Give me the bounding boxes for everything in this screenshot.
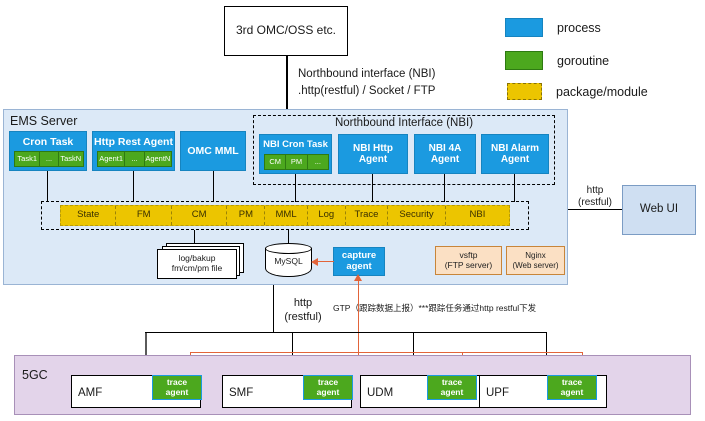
third-party-oms-box: 3rd OMC/OSS etc. xyxy=(224,6,348,56)
link-http-rest-agent-to-modules xyxy=(133,171,134,202)
module-nbi: NBI xyxy=(446,206,509,225)
module-fm: FM xyxy=(116,206,171,225)
module-state: State xyxy=(61,206,116,225)
architecture-diagram: process goroutine package/module 3rd OMC… xyxy=(0,0,705,421)
legend-row-package: package/module xyxy=(507,83,648,100)
process-swatch xyxy=(505,18,543,37)
core-to-capture-trunk-line xyxy=(358,279,359,352)
module-pm: PM xyxy=(227,206,265,225)
legend-row-goroutine: goroutine xyxy=(505,51,609,70)
webui-link-label-line2: (restful) xyxy=(578,197,612,210)
legend: process goroutine package/module xyxy=(505,18,700,103)
nginx-label-line2: (Web server) xyxy=(512,261,558,270)
vsftp-server-box: vsftp (FTP server) xyxy=(435,246,502,275)
web-ui-box: Web UI xyxy=(622,185,696,235)
capture-to-database-arrow-line xyxy=(316,261,334,262)
core-bus-line xyxy=(145,332,547,333)
nbi-connector-line xyxy=(286,56,288,110)
legend-label-process: process xyxy=(557,21,601,35)
network-function-amf: AMF trace agent xyxy=(71,375,201,408)
file-stack-label: log/bakup fm/cm/pm file xyxy=(157,249,237,279)
module-trace: Trace xyxy=(346,206,388,225)
nbi-group-title: Northbound Interface (NBI) xyxy=(253,117,555,131)
link-cron-task-to-modules xyxy=(47,171,48,202)
network-function-upf: UPF trace agent xyxy=(479,375,607,408)
network-function-amf-label: AMF xyxy=(78,387,102,399)
network-function-udm-label: UDM xyxy=(367,387,393,399)
process-nbi-http-agent-label: NBI Http Agent xyxy=(339,143,407,166)
nginx-server-box: Nginx (Web server) xyxy=(506,246,565,275)
cron-task-goroutines: Task1 ... TaskN xyxy=(14,151,84,167)
package-module-swatch xyxy=(507,83,542,100)
process-cron-task: Cron Task Task1 ... TaskN xyxy=(9,131,87,171)
process-omc-mml-label: OMC MML xyxy=(187,145,238,157)
process-nbi-4a-agent: NBI 4A Agent xyxy=(414,134,476,174)
database-cylinder-top xyxy=(265,243,312,254)
nginx-label-line1: Nginx xyxy=(525,251,545,260)
module-security: Security xyxy=(388,206,446,225)
network-function-udm: UDM trace agent xyxy=(360,375,485,408)
webui-link-label-line1: http xyxy=(587,185,604,198)
goroutine-ellipsis: ... xyxy=(125,151,144,167)
file-stack-label-line2: fm/cm/pm file xyxy=(172,264,223,274)
module-log: Log xyxy=(308,206,346,225)
goroutine-ellipsis: ... xyxy=(40,151,58,167)
nbi-cron-task-goroutines: CM PM ... xyxy=(264,154,329,170)
link-nbi-4a-agent-to-modules xyxy=(444,174,445,202)
process-capture-agent: capture agent xyxy=(333,247,385,276)
module-bar: State FM CM PM MML Log Trace Security NB… xyxy=(60,205,510,226)
goroutine-agentn: AgentN xyxy=(145,151,172,167)
goroutine-task1: Task1 xyxy=(14,151,40,167)
nbi-interface-label-line1: Northbound interface (NBI) xyxy=(298,66,435,83)
trace-agent-amf: trace agent xyxy=(152,375,202,400)
process-http-rest-agent-label: Http Rest Agent xyxy=(93,132,174,151)
core-http-link-label: http (restful) xyxy=(278,296,328,326)
goroutine-ellipsis: ... xyxy=(308,154,329,170)
nbi-interface-label: Northbound interface (NBI) .http(restful… xyxy=(298,66,435,101)
module-mml: MML xyxy=(265,206,307,225)
process-cron-task-label: Cron Task xyxy=(10,132,86,151)
trace-agent-udm: trace agent xyxy=(427,375,477,400)
process-nbi-alarm-agent-label: NBI Alarm Agent xyxy=(482,143,548,166)
module-cm: CM xyxy=(172,206,227,225)
legend-row-process: process xyxy=(505,18,601,37)
core-http-link-label-line1: http xyxy=(294,297,312,311)
legend-label-package: package/module xyxy=(556,85,648,99)
trace-bus-line xyxy=(190,352,583,353)
link-nbi-http-agent-to-modules xyxy=(372,174,373,202)
core-to-capture-arrowhead xyxy=(354,274,362,281)
database-label: MySQL xyxy=(265,254,312,270)
trace-agent-upf: trace agent xyxy=(547,375,597,400)
webui-link-label: http (restful) xyxy=(572,184,618,210)
process-nbi-4a-agent-label: NBI 4A Agent xyxy=(415,143,475,166)
gtp-note-label: GTP（跟踪数据上报）***跟踪任务通过http restful下发 xyxy=(333,302,633,314)
network-function-upf-label: UPF xyxy=(486,387,509,399)
trace-agent-smf-line2: agent xyxy=(317,388,340,398)
trace-agent-udm-line2: agent xyxy=(441,388,464,398)
capture-to-database-arrowhead xyxy=(311,258,318,266)
goroutine-cm: CM xyxy=(264,154,286,170)
link-nbi-alarm-agent-to-modules xyxy=(514,174,515,202)
trace-agent-smf: trace agent xyxy=(303,375,353,400)
nbi-interface-label-line2: .http(restful) / Socket / FTP xyxy=(298,83,435,100)
goroutine-agent1: Agent1 xyxy=(97,151,125,167)
trace-agent-upf-line2: agent xyxy=(561,388,584,398)
vsftp-label-line2: (FTP server) xyxy=(445,261,493,271)
trace-agent-amf-line2: agent xyxy=(166,388,189,398)
goroutine-pm: PM xyxy=(286,154,307,170)
process-omc-mml: OMC MML xyxy=(180,131,246,171)
goroutine-swatch xyxy=(505,51,543,70)
web-ui-label: Web UI xyxy=(640,203,678,216)
link-omc-mml-to-modules xyxy=(213,171,214,202)
process-http-rest-agent: Http Rest Agent Agent1 ... AgentN xyxy=(92,131,175,171)
process-nbi-alarm-agent: NBI Alarm Agent xyxy=(481,134,549,174)
http-rest-agent-goroutines: Agent1 ... AgentN xyxy=(97,151,172,167)
network-function-smf: SMF trace agent xyxy=(222,375,352,408)
legend-label-goroutine: goroutine xyxy=(557,54,609,68)
process-nbi-http-agent: NBI Http Agent xyxy=(338,134,408,174)
link-modules-to-files xyxy=(194,230,195,244)
core-network-title: 5GC xyxy=(22,368,48,382)
process-nbi-cron-task-label: NBI Cron Task xyxy=(260,135,331,154)
core-http-link-label-line2: (restful) xyxy=(284,311,321,325)
ems-server-title: EMS Server xyxy=(10,114,77,128)
goroutine-taskn: TaskN xyxy=(59,151,84,167)
capture-agent-label-line2: agent xyxy=(346,262,371,273)
link-nbi-cron-task-to-modules xyxy=(295,174,296,202)
network-function-smf-label: SMF xyxy=(229,387,253,399)
process-nbi-cron-task: NBI Cron Task CM PM ... xyxy=(259,134,332,174)
third-party-oms-label: 3rd OMC/OSS etc. xyxy=(236,24,336,38)
ems-to-core-trunk-line xyxy=(273,285,274,332)
capture-agent-label-line1: capture xyxy=(342,251,376,262)
